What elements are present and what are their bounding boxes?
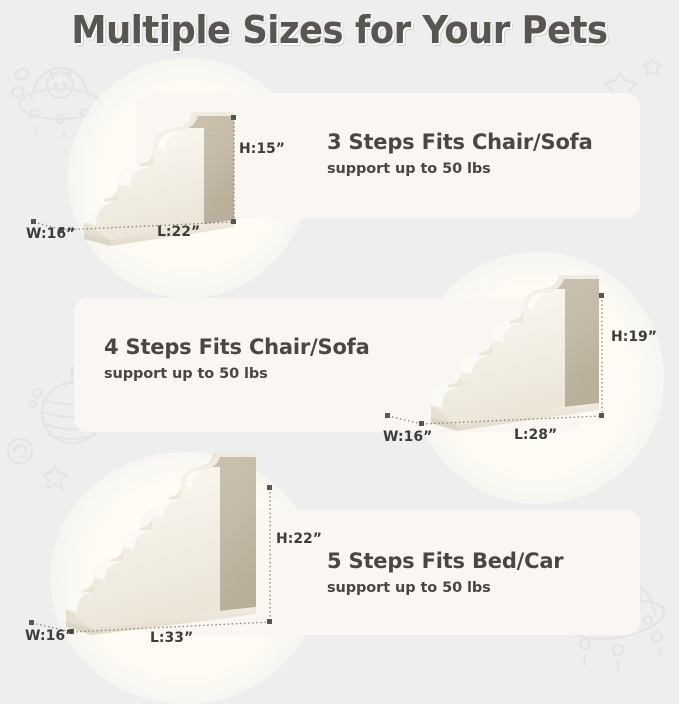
dimension-height-five-step: H:22” [276,531,322,547]
product-text-three-step: 3 Steps Fits Chair/Sofa support up to 50… [327,130,593,177]
dimension-height-four-step: H:19” [611,329,657,345]
spiral-icon [6,437,34,465]
dimension-lines-three-step [28,100,258,240]
infographic-page: Multiple Sizes for Your Pets [0,0,679,679]
dimension-length-five-step: L:33” [150,630,193,646]
dimension-width-three-step: W:16” [26,226,75,242]
product-headline: 3 Steps Fits Chair/Sofa [327,130,593,154]
dimension-length-three-step: L:22” [157,224,200,240]
dimension-length-four-step: L:28” [514,427,557,443]
product-subline: support up to 50 lbs [327,580,563,596]
product-headline: 5 Steps Fits Bed/Car [327,549,563,573]
product-subline: support up to 50 lbs [327,161,593,177]
product-text-four-step: 4 Steps Fits Chair/Sofa support up to 50… [104,335,370,382]
dimension-lines-five-step [14,466,294,651]
product-subline: support up to 50 lbs [104,366,370,382]
dimension-height-three-step: H:15” [239,141,285,157]
product-text-five-step: 5 Steps Fits Bed/Car support up to 50 lb… [327,549,563,596]
dimension-width-four-step: W:16” [383,429,432,445]
page-title: Multiple Sizes for Your Pets [24,8,655,52]
product-headline: 4 Steps Fits Chair/Sofa [104,335,370,359]
dimension-width-five-step: W:16” [25,628,74,644]
dimension-lines-four-step [378,278,628,433]
